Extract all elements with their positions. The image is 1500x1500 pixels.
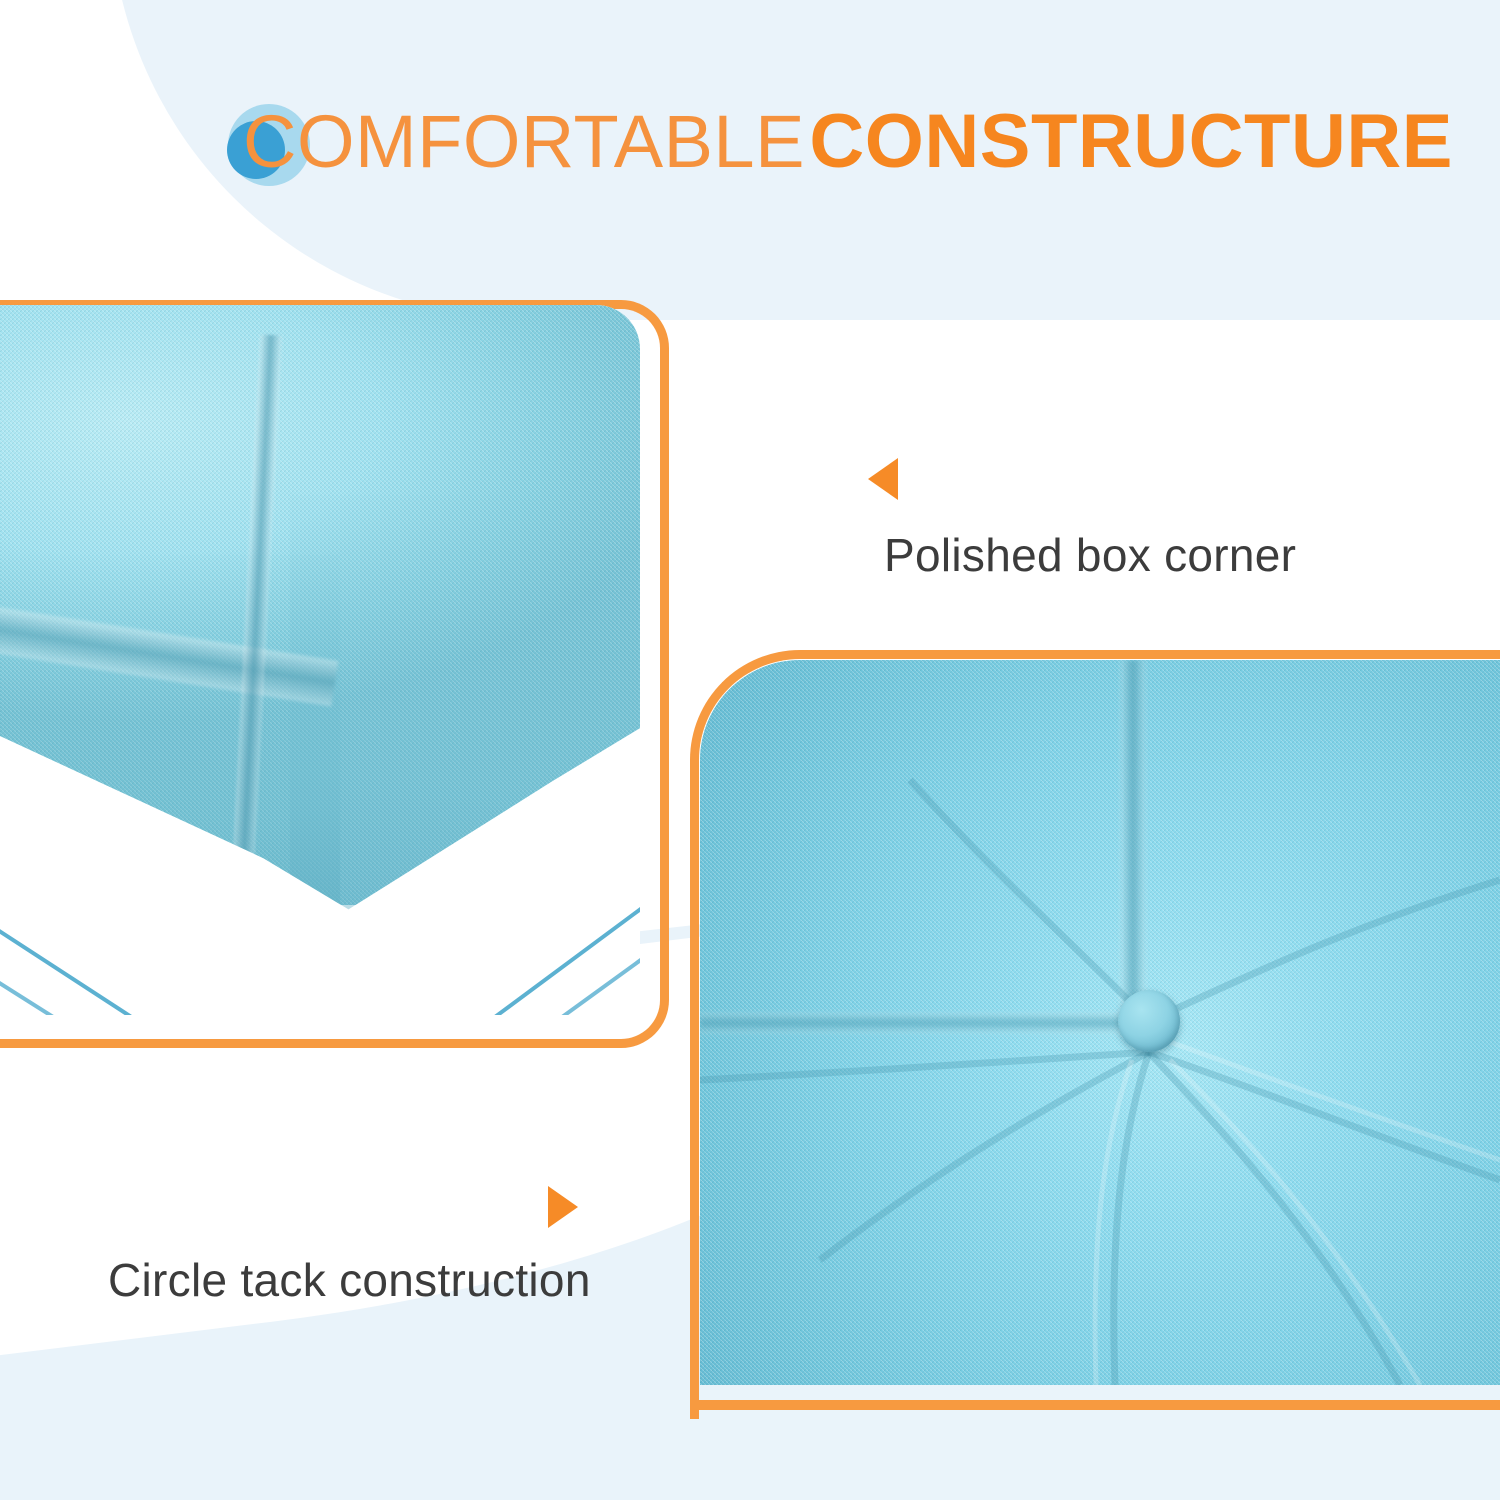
caption-polished-box-corner: Polished box corner [884,528,1296,582]
photo-polished-box-corner [0,305,640,1015]
circle-tack-button [1118,990,1180,1052]
caption-circle-tack-construction: Circle tack construction [108,1253,591,1307]
tack-pucker-folds-icon [700,660,1500,1385]
page-title-bold: CONSTRUCTURE [809,99,1453,184]
page-title: COMFORTABLE CONSTRUCTURE [243,104,1453,180]
photo-circle-tack-construction [700,660,1500,1385]
header: COMFORTABLE CONSTRUCTURE [0,0,1500,300]
triangle-left-icon [868,458,898,500]
right-panel-border-bottom [690,1400,1500,1410]
page-title-light: COMFORTABLE [243,100,805,183]
infographic-root: COMFORTABLE CONSTRUCTURE [0,0,1500,1500]
triangle-right-icon [548,1186,578,1228]
